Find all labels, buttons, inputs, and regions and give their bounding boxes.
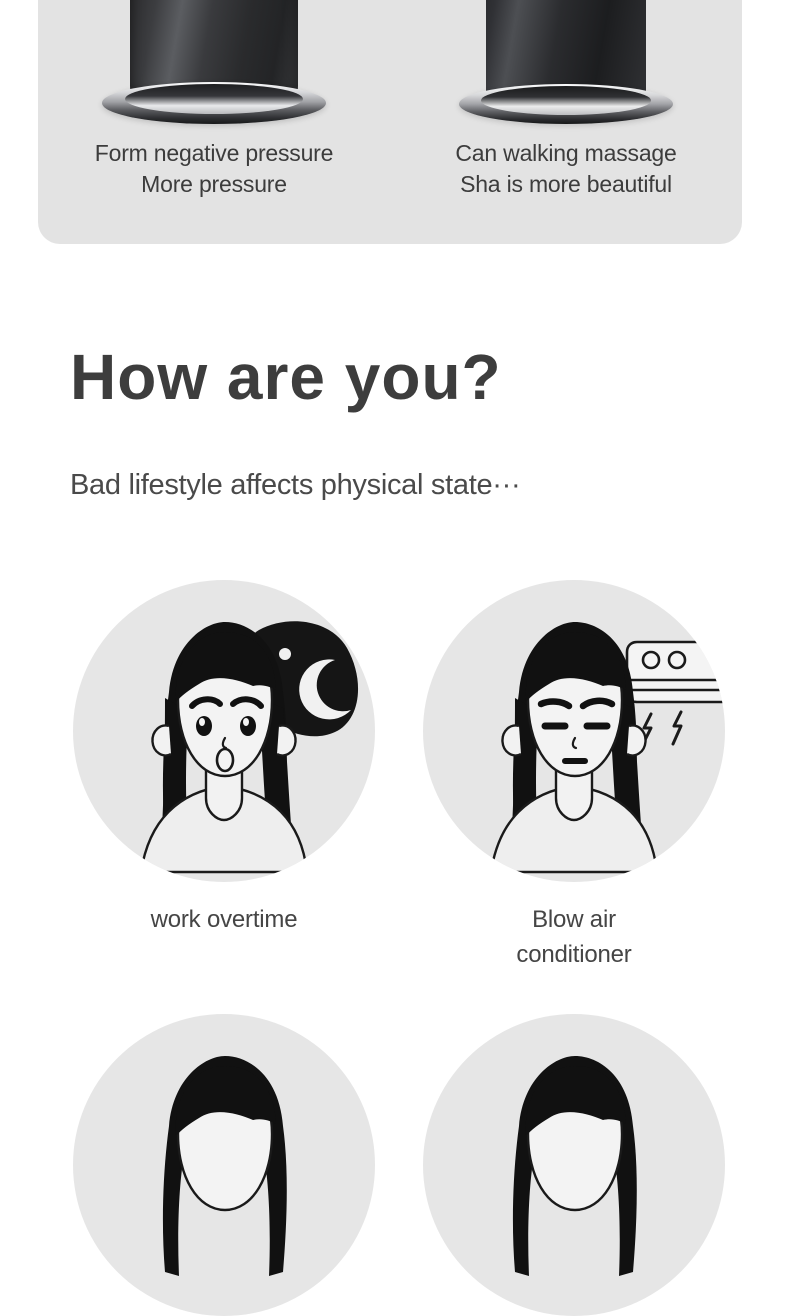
- page-title: How are you?: [70, 338, 502, 416]
- product-caption-1-line2: Sha is more beautiful: [390, 169, 742, 200]
- lifestyle-caption-1: Blow air conditioner: [423, 902, 725, 972]
- lifestyle-caption-1-line2: conditioner: [423, 937, 725, 972]
- product-feature-item-0: Form negative pressure More pressure: [38, 0, 390, 244]
- lifestyle-item-air-conditioner: Blow air conditioner: [423, 580, 725, 972]
- woman-illustration-partial-left-icon: [73, 1014, 375, 1316]
- product-feature-card: Form negative pressure More pressure Can…: [38, 0, 742, 244]
- product-feature-item-1: Can walking massage Sha is more beautifu…: [390, 0, 742, 244]
- product-caption-0-line2: More pressure: [38, 169, 390, 200]
- woman-air-conditioner-illustration-icon: [423, 580, 725, 882]
- lifestyle-item-partial-right: [423, 1014, 725, 1316]
- product-caption-1: Can walking massage Sha is more beautifu…: [390, 138, 742, 200]
- cupping-cup-wide-icon: [38, 0, 390, 130]
- lifestyle-item-work-overtime: work overtime: [73, 580, 375, 937]
- product-caption-0: Form negative pressure More pressure: [38, 138, 390, 200]
- woman-night-moon-illustration-icon: [73, 580, 375, 882]
- cupping-cup-narrow-icon: [390, 0, 742, 130]
- lifestyle-caption-0: work overtime: [73, 902, 375, 937]
- lifestyle-item-partial-left: [73, 1014, 375, 1316]
- product-caption-1-line1: Can walking massage: [390, 138, 742, 169]
- product-caption-0-line1: Form negative pressure: [38, 138, 390, 169]
- lifestyle-caption-0-line1: work overtime: [73, 902, 375, 937]
- lifestyle-caption-1-line1: Blow air: [423, 902, 725, 937]
- page-subtitle: Bad lifestyle affects physical state···: [70, 466, 520, 504]
- woman-illustration-partial-right-icon: [423, 1014, 725, 1316]
